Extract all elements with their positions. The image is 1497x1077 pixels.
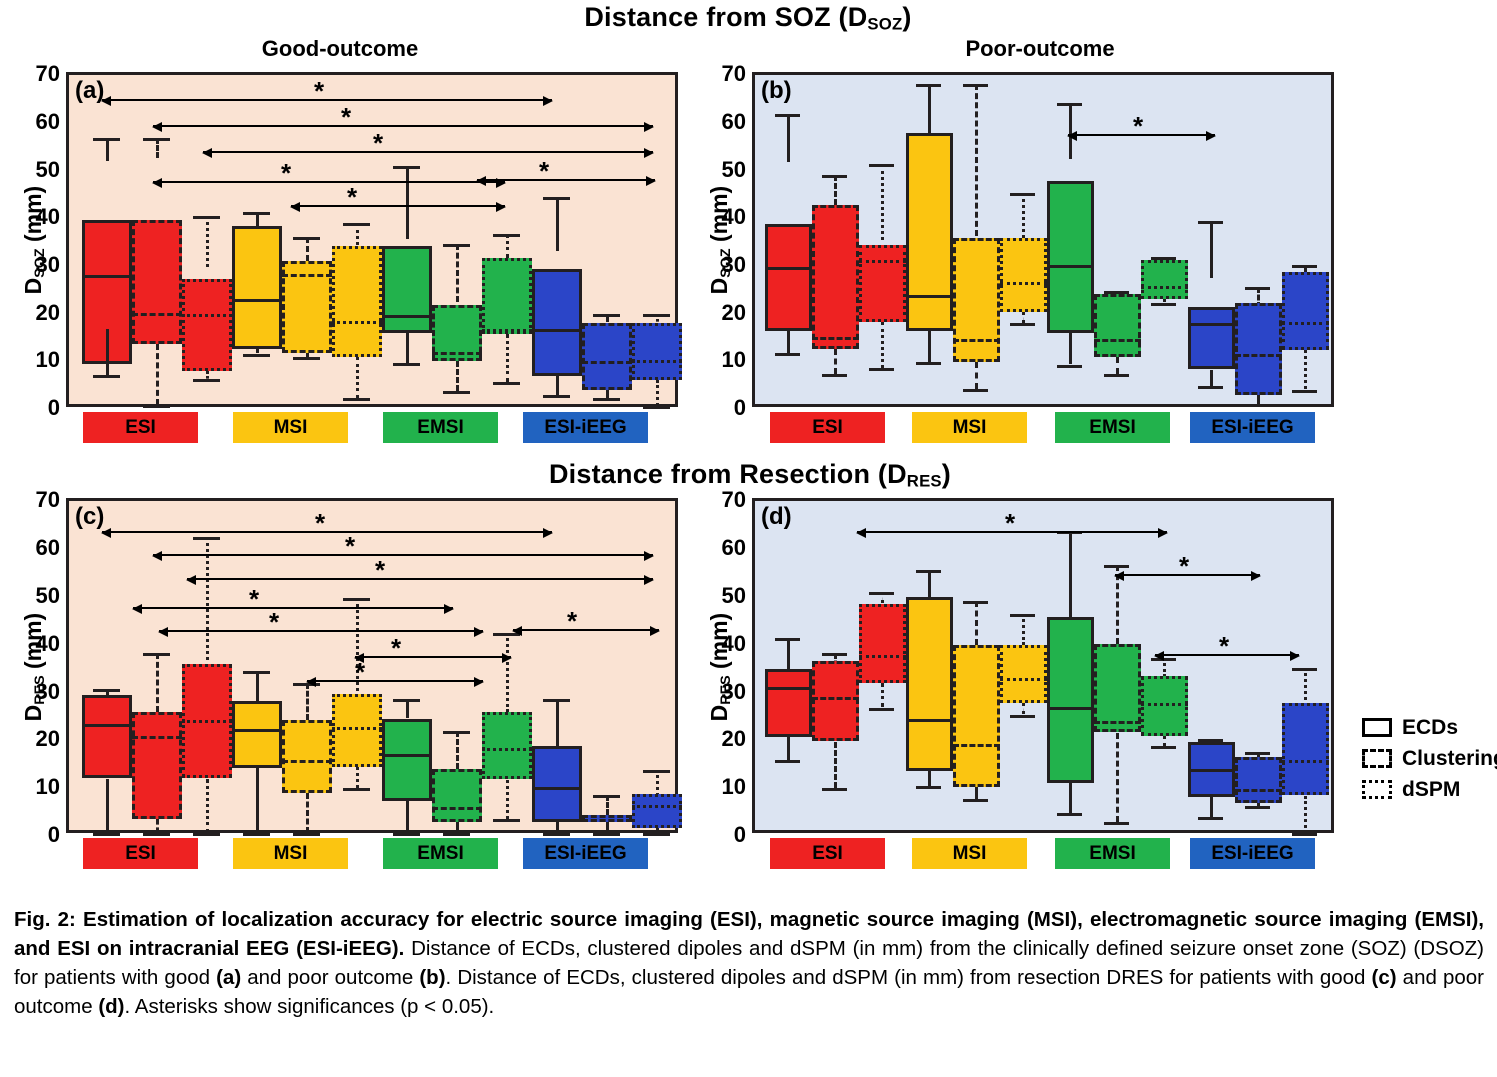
sig-bar-a-3: [203, 151, 653, 153]
chip-c-msi: MSI: [233, 838, 348, 869]
dspm-box-icon: [1362, 780, 1392, 799]
sig-star-a-3: *: [373, 130, 383, 156]
y-axis-label-b: DSOZ (mm): [706, 165, 734, 315]
sig-star-c-8: *: [567, 608, 577, 634]
y-tick-d-60: 60: [700, 535, 746, 561]
sig-star-c-4: *: [249, 586, 259, 612]
sig-bar-c-2: [153, 554, 653, 556]
box-b-esi-dspm: [859, 75, 906, 410]
sig-star-b-1: *: [1133, 113, 1143, 139]
ylab-c-d: D: [20, 705, 46, 722]
y-tick-a-60: 60: [14, 109, 60, 135]
y-tick-b-50: 50: [700, 157, 746, 183]
y-tick-c-40: 40: [14, 631, 60, 657]
box-c-esi-dspm: [182, 501, 232, 836]
y-tick-d-30: 30: [700, 679, 746, 705]
title-soz-text: Distance from SOZ (D: [584, 2, 867, 32]
y-tick-b-20: 20: [700, 300, 746, 326]
chip-c-esi: ESI: [83, 838, 198, 869]
box-d-esiieeg-clustering: [1235, 501, 1282, 836]
chip-a-esi: ESI: [83, 412, 198, 443]
box-b-esiieeg-clustering: [1235, 75, 1282, 410]
y-tick-c-20: 20: [14, 726, 60, 752]
y-tick-d-0: 0: [700, 822, 746, 848]
title-soz-subscript: SOZ: [867, 15, 902, 34]
chip-d-esi: ESI: [770, 838, 885, 869]
sig-star-a-1: *: [314, 78, 324, 104]
title-res-subscript: RES: [907, 472, 942, 491]
caption-tail: . Asterisks show significances (p < 0.05…: [125, 995, 495, 1018]
y-tick-d-70: 70: [700, 487, 746, 513]
box-b-esiieeg-dspm: [1282, 75, 1329, 410]
y-tick-a-70: 70: [14, 61, 60, 87]
sig-bar-a-6: [477, 179, 655, 181]
sig-bar-c-5: [159, 630, 483, 632]
box-b-emsi-dspm: [1141, 75, 1188, 410]
sig-bar-c-3: [187, 578, 653, 580]
legend-label-dspm: dSPM: [1402, 778, 1460, 802]
chip-d-msi: MSI: [912, 838, 1027, 869]
panel-d-letter: (d): [761, 503, 792, 531]
y-tick-a-50: 50: [14, 157, 60, 183]
caption-ref-b: (b): [419, 966, 445, 989]
y-tick-c-50: 50: [14, 583, 60, 609]
box-b-emsi-ecds: [1047, 75, 1094, 410]
sig-star-a-6: *: [539, 158, 549, 184]
figure-caption: Fig. 2: Estimation of localization accur…: [14, 905, 1484, 1021]
title-soz-close: ): [902, 2, 911, 32]
caption-ref-a: (a): [216, 966, 241, 989]
chip-c-esiieeg: ESI-iEEG: [523, 838, 648, 869]
box-b-msi-dspm: [1000, 75, 1047, 410]
y-tick-b-40: 40: [700, 204, 746, 230]
legend-row-ecds: ECDs: [1362, 712, 1497, 743]
box-d-msi-dspm: [1000, 501, 1047, 836]
box-c-esiieeg-dspm: [632, 501, 682, 836]
column-header-poor-outcome: Poor-outcome: [880, 36, 1200, 62]
box-d-emsi-ecds: [1047, 501, 1094, 836]
chip-b-esi: ESI: [770, 412, 885, 443]
sig-star-a-4: *: [281, 160, 291, 186]
panel-d: (d): [752, 498, 1334, 833]
legend-row-clustering: Clustering: [1362, 743, 1497, 774]
y-axis-label-a: DSOZ (mm): [20, 165, 48, 315]
y-tick-b-30: 30: [700, 252, 746, 278]
box-d-esiieeg-dspm: [1282, 501, 1329, 836]
y-tick-c-70: 70: [14, 487, 60, 513]
box-c-emsi-ecds: [382, 501, 432, 836]
y-axis-label-d: DRES (mm): [706, 592, 734, 742]
y-tick-c-10: 10: [14, 774, 60, 800]
box-c-esi-ecds: [82, 501, 132, 836]
sig-star-c-7: *: [355, 659, 365, 685]
caption-mid2: . Distance of ECDs, clustered dipoles an…: [446, 966, 1372, 989]
box-d-emsi-clustering: [1094, 501, 1141, 836]
box-d-esi-ecds: [765, 501, 812, 836]
sig-star-c-3: *: [375, 557, 385, 583]
sig-star-d-3: *: [1219, 633, 1229, 659]
y-tick-b-70: 70: [700, 61, 746, 87]
y-tick-c-0: 0: [14, 822, 60, 848]
chip-c-emsi: EMSI: [383, 838, 498, 869]
panel-c-letter: (c): [75, 503, 104, 531]
title-distance-soz: Distance from SOZ (DSOZ): [448, 2, 1048, 35]
figure-root: Distance from SOZ (DSOZ) Distance from R…: [0, 0, 1497, 1077]
sig-bar-a-2: [153, 125, 653, 127]
box-b-esiieeg-ecds: [1188, 75, 1235, 410]
y-axis-label-c: DRES (mm): [20, 592, 48, 742]
y-tick-a-20: 20: [14, 300, 60, 326]
y-tick-a-0: 0: [14, 395, 60, 421]
sig-bar-a-4: [153, 181, 505, 183]
chip-d-esiieeg: ESI-iEEG: [1190, 838, 1315, 869]
ecds-box-icon: [1362, 718, 1392, 737]
clustering-box-icon: [1362, 749, 1392, 768]
sig-bar-a-1: [102, 99, 552, 101]
column-header-good-outcome: Good-outcome: [180, 36, 500, 62]
caption-ref-c: (c): [1372, 966, 1397, 989]
box-c-emsi-clustering: [432, 501, 482, 836]
box-d-esi-dspm: [859, 501, 906, 836]
sig-star-c-2: *: [345, 533, 355, 559]
box-b-msi-clustering: [953, 75, 1000, 410]
style-legend: ECDs Clustering dSPM: [1362, 712, 1497, 805]
chip-a-emsi: EMSI: [383, 412, 498, 443]
y-tick-d-20: 20: [700, 726, 746, 752]
box-b-esi-clustering: [812, 75, 859, 410]
sig-star-c-1: *: [315, 510, 325, 536]
sig-bar-a-5: [291, 205, 505, 207]
chip-b-esiieeg: ESI-iEEG: [1190, 412, 1315, 443]
y-tick-a-10: 10: [14, 347, 60, 373]
y-tick-d-10: 10: [700, 774, 746, 800]
y-tick-b-0: 0: [700, 395, 746, 421]
box-b-esi-ecds: [765, 75, 812, 410]
caption-mid1: and poor outcome: [241, 966, 419, 989]
sig-bar-c-7: [307, 680, 483, 682]
box-c-msi-ecds: [232, 501, 282, 836]
legend-label-ecds: ECDs: [1402, 716, 1458, 740]
box-c-esiieeg-ecds: [532, 501, 582, 836]
box-a-esi-ecds: [82, 75, 132, 410]
title-distance-res: Distance from Resection (DRES): [440, 459, 1060, 492]
box-b-msi-ecds: [906, 75, 953, 410]
box-d-esi-clustering: [812, 501, 859, 836]
legend-label-clustering: Clustering: [1402, 747, 1497, 771]
box-d-esiieeg-ecds: [1188, 501, 1235, 836]
sig-star-c-5: *: [269, 609, 279, 635]
chip-b-emsi: EMSI: [1055, 412, 1170, 443]
chip-a-esiieeg: ESI-iEEG: [523, 412, 648, 443]
sig-star-a-2: *: [341, 104, 351, 130]
box-d-msi-clustering: [953, 501, 1000, 836]
y-tick-d-50: 50: [700, 583, 746, 609]
box-c-msi-clustering: [282, 501, 332, 836]
y-tick-b-60: 60: [700, 109, 746, 135]
y-tick-c-60: 60: [14, 535, 60, 561]
box-c-emsi-dspm: [482, 501, 532, 836]
sig-star-a-5: *: [347, 184, 357, 210]
y-tick-b-10: 10: [700, 347, 746, 373]
sig-bar-c-8: [513, 629, 659, 631]
sig-star-d-1: *: [1005, 510, 1015, 536]
y-tick-a-30: 30: [14, 252, 60, 278]
panel-c: (c): [66, 498, 678, 833]
title-res-text: Distance from Resection (D: [549, 459, 907, 489]
box-c-esiieeg-clustering: [582, 501, 632, 836]
legend-row-dspm: dSPM: [1362, 774, 1497, 805]
ylab-b-d: D: [706, 278, 732, 295]
panel-b-letter: (b): [761, 77, 792, 105]
sig-bar-c-6: [355, 656, 511, 658]
sig-star-c-6: *: [391, 635, 401, 661]
sig-bar-c-1: [102, 531, 552, 533]
box-d-msi-ecds: [906, 501, 953, 836]
chip-a-msi: MSI: [233, 412, 348, 443]
panel-a: (a): [66, 72, 678, 407]
sig-bar-c-4: [133, 607, 453, 609]
chip-b-msi: MSI: [912, 412, 1027, 443]
ylab-d-d: D: [706, 705, 732, 722]
panel-a-letter: (a): [75, 77, 104, 105]
y-tick-c-30: 30: [14, 679, 60, 705]
y-tick-d-40: 40: [700, 631, 746, 657]
y-tick-a-40: 40: [14, 204, 60, 230]
chip-d-emsi: EMSI: [1055, 838, 1170, 869]
sig-star-d-2: *: [1179, 553, 1189, 579]
ylab-a-d: D: [20, 278, 46, 295]
title-res-close: ): [942, 459, 951, 489]
panel-b: (b): [752, 72, 1334, 407]
caption-ref-d: (d): [98, 995, 124, 1018]
